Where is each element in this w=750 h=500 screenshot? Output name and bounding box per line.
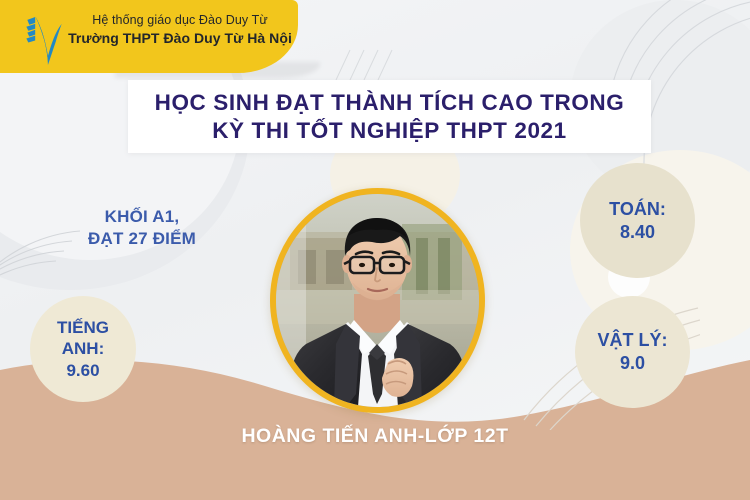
student-name: HOÀNG TIẾN ANH-LỚP 12T <box>0 425 750 448</box>
score-label-english-1: TIẾNG <box>57 317 109 338</box>
score-value-physics: 9.0 <box>620 352 645 375</box>
achievement-line-1: KHỐI A1, <box>52 206 232 228</box>
student-photo <box>276 194 479 407</box>
score-bubble-english: TIẾNG ANH: 9.60 <box>30 296 136 402</box>
score-label-math: TOÁN: <box>609 198 666 221</box>
portrait-ring <box>270 188 485 413</box>
score-value-english: 9.60 <box>66 360 99 381</box>
header-text: Hệ thống giáo dục Đào Duy Từ Trường THPT… <box>62 13 298 47</box>
achievement-caption: KHỐI A1, ĐẠT 27 ĐIỂM <box>52 206 232 251</box>
header-org-line2: Trường THPT Đào Duy Từ Hà Nội <box>62 30 298 48</box>
achievement-line-2: ĐẠT 27 ĐIỂM <box>52 228 232 250</box>
score-label-english-2: ANH: <box>62 338 105 359</box>
score-bubble-math: TOÁN: 8.40 <box>580 163 695 278</box>
title-card: HỌC SINH ĐẠT THÀNH TÍCH CAO TRONG KỲ THI… <box>128 80 651 153</box>
header-org-line1: Hệ thống giáo dục Đào Duy Từ <box>62 13 298 29</box>
title-line-2: KỲ THI TỐT NGHIỆP THPT 2021 <box>212 117 567 144</box>
title-line-1: HỌC SINH ĐẠT THÀNH TÍCH CAO TRONG <box>155 89 625 116</box>
poster-canvas: Hệ thống giáo dục Đào Duy Từ Trường THPT… <box>0 0 750 500</box>
score-value-math: 8.40 <box>620 221 655 244</box>
score-bubble-physics: VẬT LÝ: 9.0 <box>575 296 690 408</box>
score-label-physics: VẬT LÝ: <box>598 329 668 352</box>
